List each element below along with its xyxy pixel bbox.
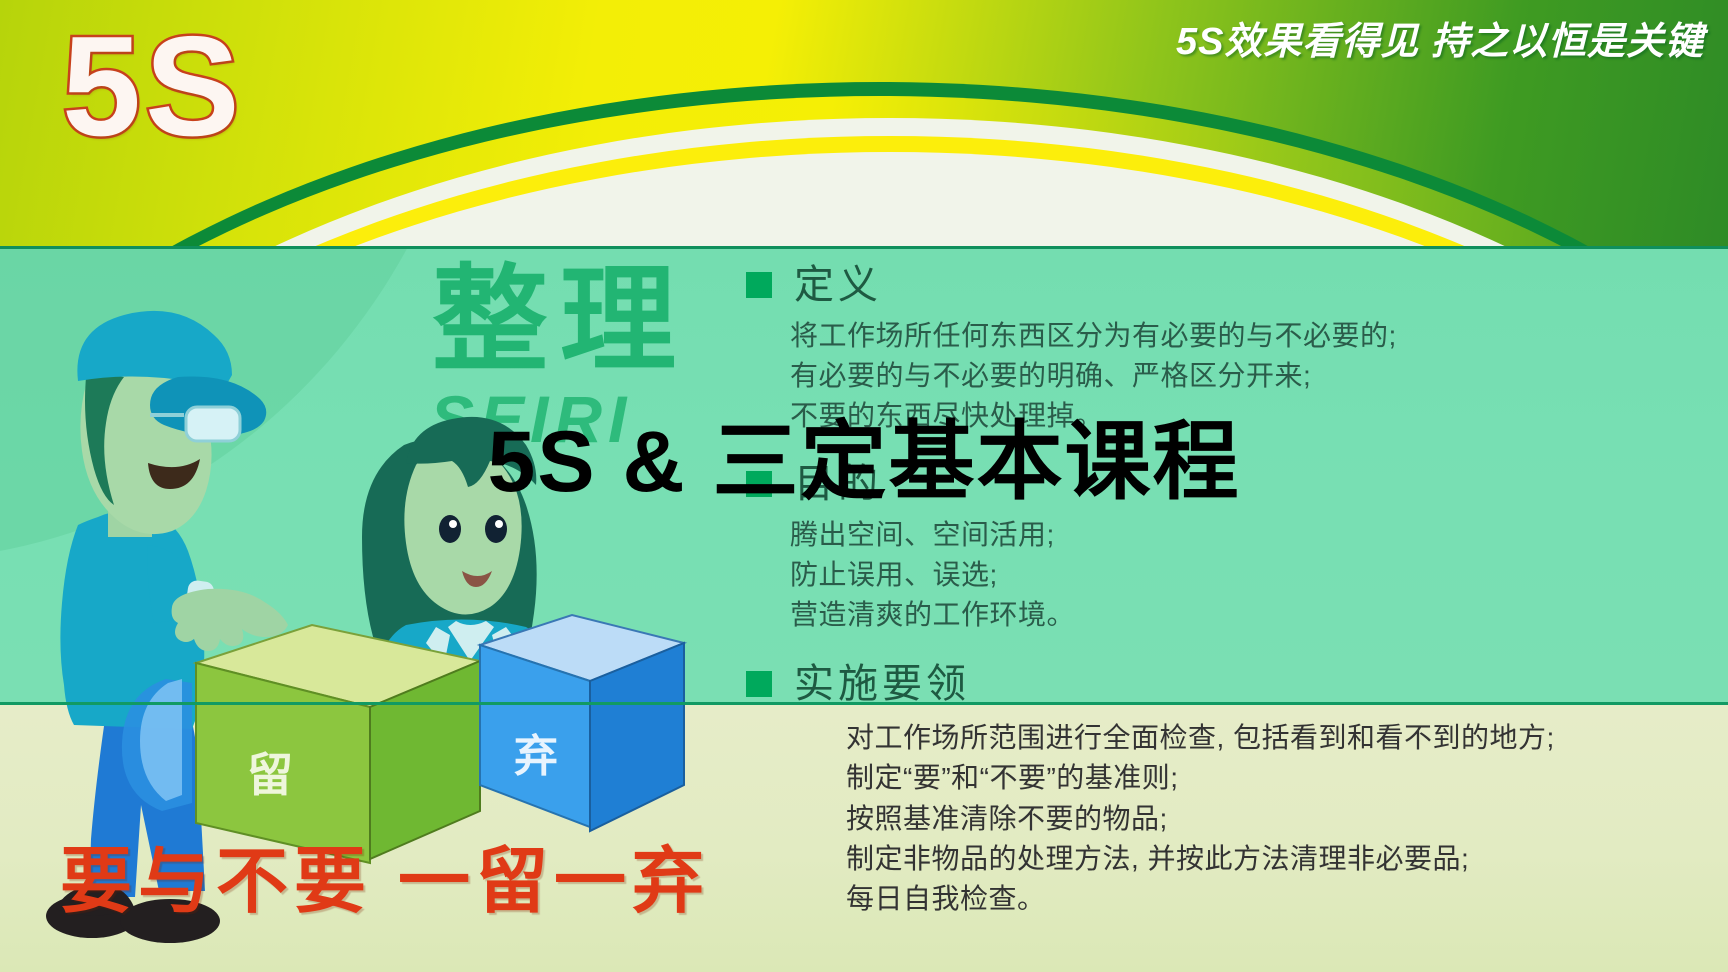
- body-line: 防止误用、误选;: [790, 555, 1670, 595]
- section-header-implementation: 实施要领: [790, 661, 1670, 707]
- keep-box-label: 留: [247, 749, 293, 801]
- section-title: 实施要领: [794, 661, 970, 707]
- body-line: 制定非物品的处理方法, 并按此方法清理非必要品;: [846, 839, 1726, 879]
- red-slogan: 要与不要 一留一弃: [60, 846, 710, 918]
- body-line: 制定“要”和“不要”的基准则;: [846, 758, 1726, 798]
- bullet-square-icon: [746, 272, 772, 298]
- body-line: 将工作场所任何东西区分为有必要的与不必要的;: [790, 316, 1670, 356]
- section-header-definition: 定义: [790, 262, 1670, 308]
- body-line: 按照基准清除不要的物品;: [846, 799, 1726, 839]
- body-line: 营造清爽的工作环境。: [790, 595, 1670, 635]
- slide-canvas: 5S 5S效果看得见 持之以恒是关键 整理 SEIRI: [0, 0, 1728, 972]
- body-line: 有必要的与不必要的明确、严格区分开来;: [790, 356, 1670, 396]
- body-line: 腾出空间、空间活用;: [790, 515, 1670, 555]
- discard-box-label: 弃: [514, 732, 558, 781]
- banner-tagline: 5S效果看得见 持之以恒是关键: [1176, 22, 1704, 64]
- section-body-purpose: 腾出空间、空间活用; 防止误用、误选; 营造清爽的工作环境。: [790, 515, 1670, 634]
- bullet-square-icon: [746, 671, 772, 697]
- body-line: 对工作场所范围进行全面检查, 包括看到和看不到的地方;: [846, 718, 1726, 758]
- body-line: 每日自我检查。: [846, 879, 1726, 919]
- section-body-implementation: 对工作场所范围进行全面检查, 包括看到和看不到的地方; 制定“要”和“不要”的基…: [846, 718, 1726, 920]
- section-title: 定义: [794, 262, 882, 308]
- discard-box-blue: 弃: [480, 615, 684, 831]
- keep-box-green: 留: [196, 625, 480, 863]
- overlay-course-title: 5S & 三定基本课程: [0, 415, 1728, 510]
- banner-divider-rule: [0, 246, 1728, 249]
- khaki-divider-rule: [0, 702, 1728, 705]
- logo-5s: 5S: [62, 16, 244, 158]
